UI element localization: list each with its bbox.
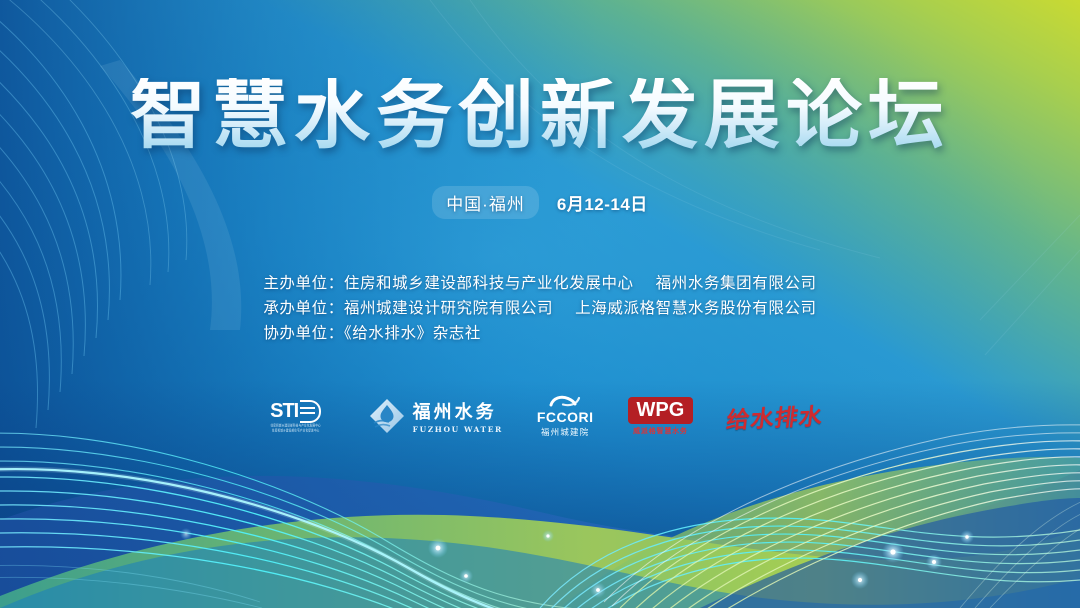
- stid-mark: STI: [270, 400, 321, 423]
- stid-caption: 住房和城乡建设部科技与产业化发展中心 住房和城乡建设部住宅产业化促进中心: [257, 424, 335, 433]
- logo-fccori: FCCORI 福州城建院: [537, 390, 594, 442]
- event-dates: 6月12-14日: [557, 190, 648, 215]
- gei-shui-pai-shui-text: 给水排水: [725, 397, 825, 435]
- coorganizer-1: 《给水排水》杂志社: [344, 325, 481, 342]
- fccori-swoosh-icon: [548, 395, 582, 408]
- fuzhou-water-text: 福州水务 FUZHOU WATER: [413, 398, 503, 434]
- coorganizer-label: 协办单位：: [263, 325, 344, 342]
- fccori-letters: FCCORI: [537, 409, 594, 425]
- fuzhou-water-cn: 福州水务: [413, 398, 503, 424]
- logo-wpg: WPG 威派格智慧水务: [628, 390, 694, 442]
- sponsor-logo-row: STI 住房和城乡建设部科技与产业化发展中心 住房和城乡建设部住宅产业化促进中心: [257, 390, 824, 442]
- event-location: 中国·福州: [432, 186, 539, 219]
- stid-d-icon: [300, 400, 321, 423]
- organizer-line: 承办单位：福州城建设计研究院有限公司上海威派格智慧水务股份有限公司: [263, 296, 816, 321]
- logo-stid: STI 住房和城乡建设部科技与产业化发展中心 住房和城乡建设部住宅产业化促进中心: [257, 390, 335, 442]
- page-title: 智慧水务创新发展论坛: [124, 78, 956, 154]
- fuzhou-water-en: FUZHOU WATER: [413, 425, 503, 434]
- wpg-box: WPG: [628, 397, 694, 424]
- poster-canvas: 智慧水务创新发展论坛 中国·福州 6月12-14日 主办单位：住房和城乡建设部科…: [0, 0, 1080, 608]
- organizer-2: 上海威派格智慧水务股份有限公司: [575, 300, 817, 317]
- host-1: 住房和城乡建设部科技与产业化发展中心: [344, 275, 634, 292]
- organizer-block: 主办单位：住房和城乡建设部科技与产业化发展中心福州水务集团有限公司 承办单位：福…: [263, 271, 816, 346]
- host-label: 主办单位：: [263, 275, 344, 292]
- host-2: 福州水务集团有限公司: [656, 275, 817, 292]
- fccori-cn: 福州城建院: [541, 426, 590, 438]
- host-line: 主办单位：住房和城乡建设部科技与产业化发展中心福州水务集团有限公司: [263, 271, 816, 296]
- logo-fuzhou-water: 福州水务 FUZHOU WATER: [369, 390, 503, 442]
- wpg-cn: 威派格智慧水务: [633, 426, 688, 436]
- organizer-label: 承办单位：: [263, 300, 344, 317]
- stid-letters: STI: [270, 400, 298, 423]
- stid-caption-line2: 住房和城乡建设部住宅产业化促进中心: [257, 429, 335, 433]
- organizer-1: 福州城建设计研究院有限公司: [344, 300, 553, 317]
- logo-gei-shui-pai-shui: 给水排水: [727, 390, 823, 442]
- water-drop-icon: [369, 398, 405, 434]
- wpg-letters: WPG: [637, 400, 685, 420]
- event-subtitle: 中国·福州 6月12-14日: [432, 186, 648, 219]
- coorganizer-line: 协办单位：《给水排水》杂志社: [263, 321, 816, 346]
